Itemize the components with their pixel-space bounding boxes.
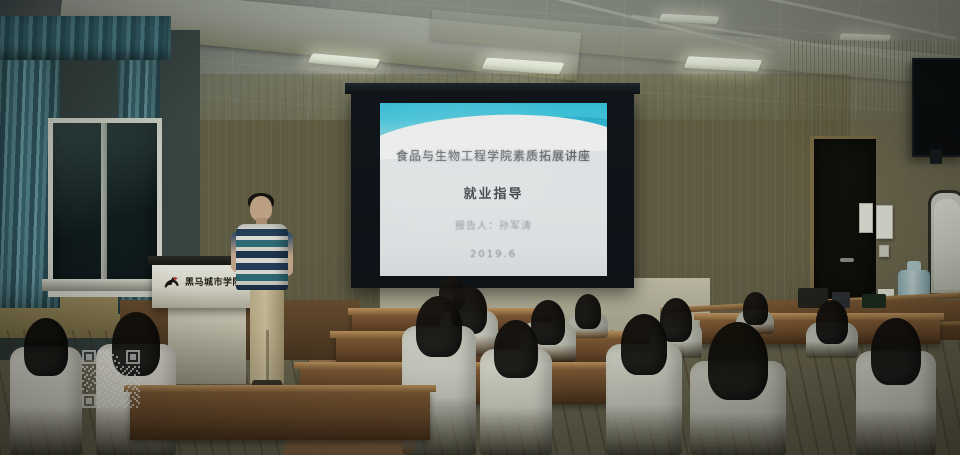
wall-tv-icon (912, 58, 960, 157)
wall-outlet-icon (879, 245, 889, 257)
bench-row (130, 390, 430, 440)
slide-heading: 就业指导 (380, 183, 607, 202)
speaker-striped-shirt (236, 224, 288, 290)
podium-base (168, 306, 246, 384)
av-equipment (862, 294, 886, 308)
audience-member-hair (816, 300, 848, 344)
audience-member-hair (24, 318, 68, 376)
arched-window-icon (928, 190, 960, 296)
audience-member (690, 322, 786, 455)
audience-member-hair (416, 296, 462, 357)
lecture-hall-photo: 食品与生物工程学院素质拓展讲座 就业指导 报告人：孙军涛 2019.6 黑马城市… (0, 0, 960, 455)
window-sill (42, 279, 160, 291)
audience-member (606, 314, 682, 455)
slide-organizer-line: 食品与生物工程学院素质拓展讲座 (380, 147, 607, 164)
tv-mount (930, 150, 942, 164)
light-switch-icon (876, 205, 893, 239)
audience-member-hair (743, 292, 768, 325)
qr-code-icon (82, 350, 140, 408)
projection-screen-surface: 食品与生物工程学院素质拓展讲座 就业指导 报告人：孙军涛 2019.6 (380, 103, 607, 276)
light-switch-icon (859, 203, 873, 233)
audience-member (480, 320, 552, 455)
audience-member-hair (871, 318, 921, 385)
audience-member (806, 300, 858, 358)
audience-member-hair (621, 314, 667, 375)
door-handle (840, 258, 854, 262)
speaker-leg-seam (266, 330, 269, 384)
audience-member-hair (708, 322, 768, 400)
audience-member (856, 318, 936, 455)
curtain-valance (0, 16, 171, 60)
audience-member-hair (494, 320, 538, 378)
horse-logo-icon (163, 276, 181, 291)
slide-date: 2019.6 (380, 249, 607, 260)
bench-desktop (124, 385, 436, 392)
audience-member-hair (575, 294, 601, 329)
slide-presenter: 报告人：孙军涛 (380, 217, 607, 232)
window-glass (53, 123, 157, 288)
audience-member (10, 318, 82, 455)
window-icon (48, 118, 162, 297)
